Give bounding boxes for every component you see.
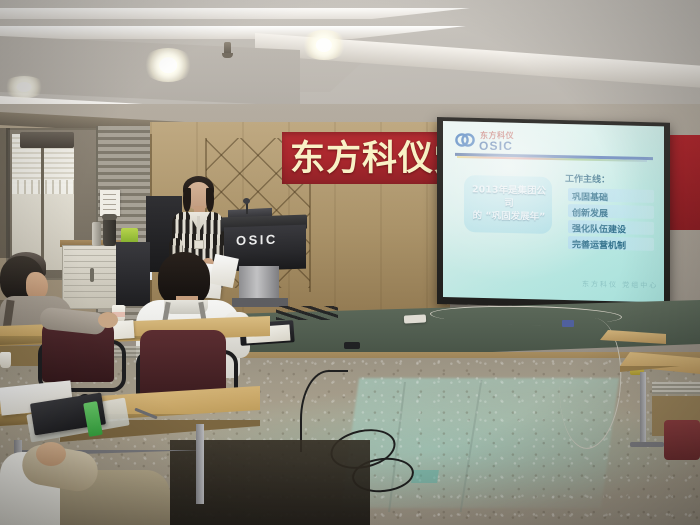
cable-plug [562, 320, 574, 327]
wall-notice-text-lines [103, 194, 116, 212]
conference-room-photo: 东方科仪党的 东方科仪 OSIC 2013年是集团公司 的 “巩固发展年” 工作… [0, 0, 700, 525]
cabinet-handle[interactable] [90, 268, 94, 282]
paper-cup [0, 352, 11, 368]
air-conditioner-unit [20, 132, 74, 148]
slide-headline-line-2: 的 “巩固发展年” [468, 209, 550, 224]
slide-bullet-label: 强化队伍建设 [572, 221, 626, 235]
thermos-flask [92, 222, 101, 246]
kettle-lid [102, 214, 117, 220]
cable-bundle [276, 306, 338, 320]
slide-bullet-label: 巩固基础 [572, 190, 608, 204]
downlight-icon [300, 30, 348, 60]
wall-shadow-edge [0, 128, 10, 258]
podium-stand [239, 266, 279, 302]
speaker-hair-side [206, 188, 214, 212]
table-foot [630, 442, 664, 447]
slide-footer-watermark: 东方科仪 党组中心 [582, 279, 658, 291]
electric-kettle [103, 218, 116, 246]
slide-section-heading: 工作主线： [565, 172, 610, 186]
power-strip[interactable] [404, 314, 426, 323]
speaker-hair-side [183, 188, 191, 212]
slide-bullet-label: 完善运营机制 [572, 237, 626, 251]
slide-headline-line-1: 2013年是集团公司 [468, 183, 550, 211]
microphone-icon [243, 198, 250, 204]
av-equipment-rack [116, 242, 150, 306]
slide-bullet-label: 创新发展 [572, 206, 608, 220]
osic-logo-text: OSIC [479, 139, 513, 153]
chair[interactable] [664, 420, 700, 460]
downlight-icon [142, 48, 194, 82]
speaker-lanyard [197, 216, 200, 242]
table-leg [196, 424, 204, 504]
attendee-hand [98, 312, 118, 328]
red-banner-text: 东方科仪党的 [290, 137, 455, 181]
speaker-badge [194, 240, 204, 249]
floor-device [344, 342, 360, 349]
downlight-icon [2, 76, 46, 98]
table-leg [640, 372, 646, 444]
attendee-hand [36, 442, 66, 466]
table-under-shelf [652, 382, 700, 394]
floor-tile-accent [411, 470, 439, 483]
slide-headline-text: 2013年是集团公司 的 “巩固发展年” [468, 183, 550, 224]
podium-brand-label: OSIC [236, 231, 298, 248]
window-mullion [41, 134, 44, 270]
osic-logo-mark-icon [455, 132, 477, 148]
